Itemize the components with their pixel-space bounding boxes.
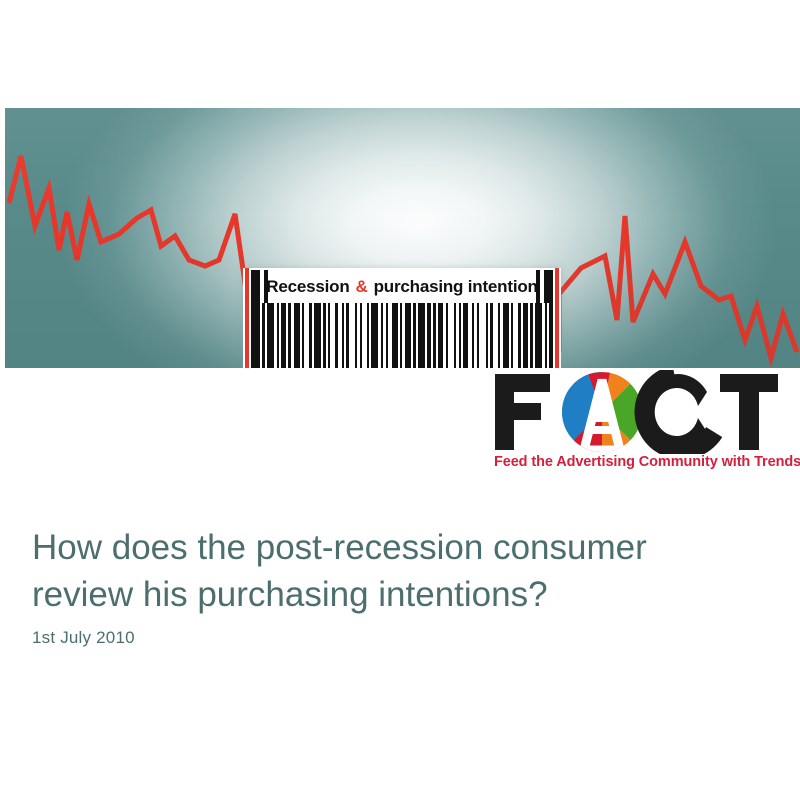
barcode-bar	[371, 303, 378, 368]
page-title-line-2: review his purchasing intentions?	[32, 571, 762, 618]
barcode-title: Recession & purchasing intention	[257, 274, 547, 300]
page-title-line-1: How does the post-recession consumer	[32, 524, 762, 571]
barcode-title-ampersand: &	[356, 277, 368, 297]
barcode-bar	[535, 303, 542, 368]
page-title: How does the post-recession consumer rev…	[32, 524, 762, 618]
barcode-space	[547, 303, 549, 368]
barcode-bar	[418, 303, 425, 368]
trend-line-right	[559, 216, 797, 358]
trend-line-left	[9, 156, 246, 352]
barcode-rail-left	[245, 268, 249, 368]
barcode-title-before: Recession	[266, 277, 349, 297]
fact-logo: Feed the Advertising Community with Tren…	[492, 370, 784, 476]
slide-root: Recession & purchasing intention	[0, 0, 800, 800]
logo-letter-t-icon	[720, 374, 778, 450]
barcode-bar	[314, 303, 321, 368]
barcode-bar	[267, 303, 274, 368]
barcode-space	[479, 303, 486, 368]
barcode-graphic: Recession & purchasing intention	[243, 268, 561, 368]
logo-letter-c-icon	[630, 370, 735, 454]
fact-logo-mark	[492, 370, 784, 454]
logo-letter-a-wheel-icon	[562, 372, 642, 452]
fact-logo-tagline: Feed the Advertising Community with Tren…	[494, 454, 786, 470]
barcode-rail-right	[555, 268, 559, 368]
barcode-title-after: purchasing intention	[374, 277, 538, 297]
fact-wordmark-svg	[492, 370, 784, 454]
presentation-date: 1st July 2010	[32, 628, 135, 648]
recession-banner: Recession & purchasing intention	[5, 108, 800, 368]
barcode-bars	[255, 303, 549, 368]
logo-letter-f-icon	[495, 374, 550, 450]
